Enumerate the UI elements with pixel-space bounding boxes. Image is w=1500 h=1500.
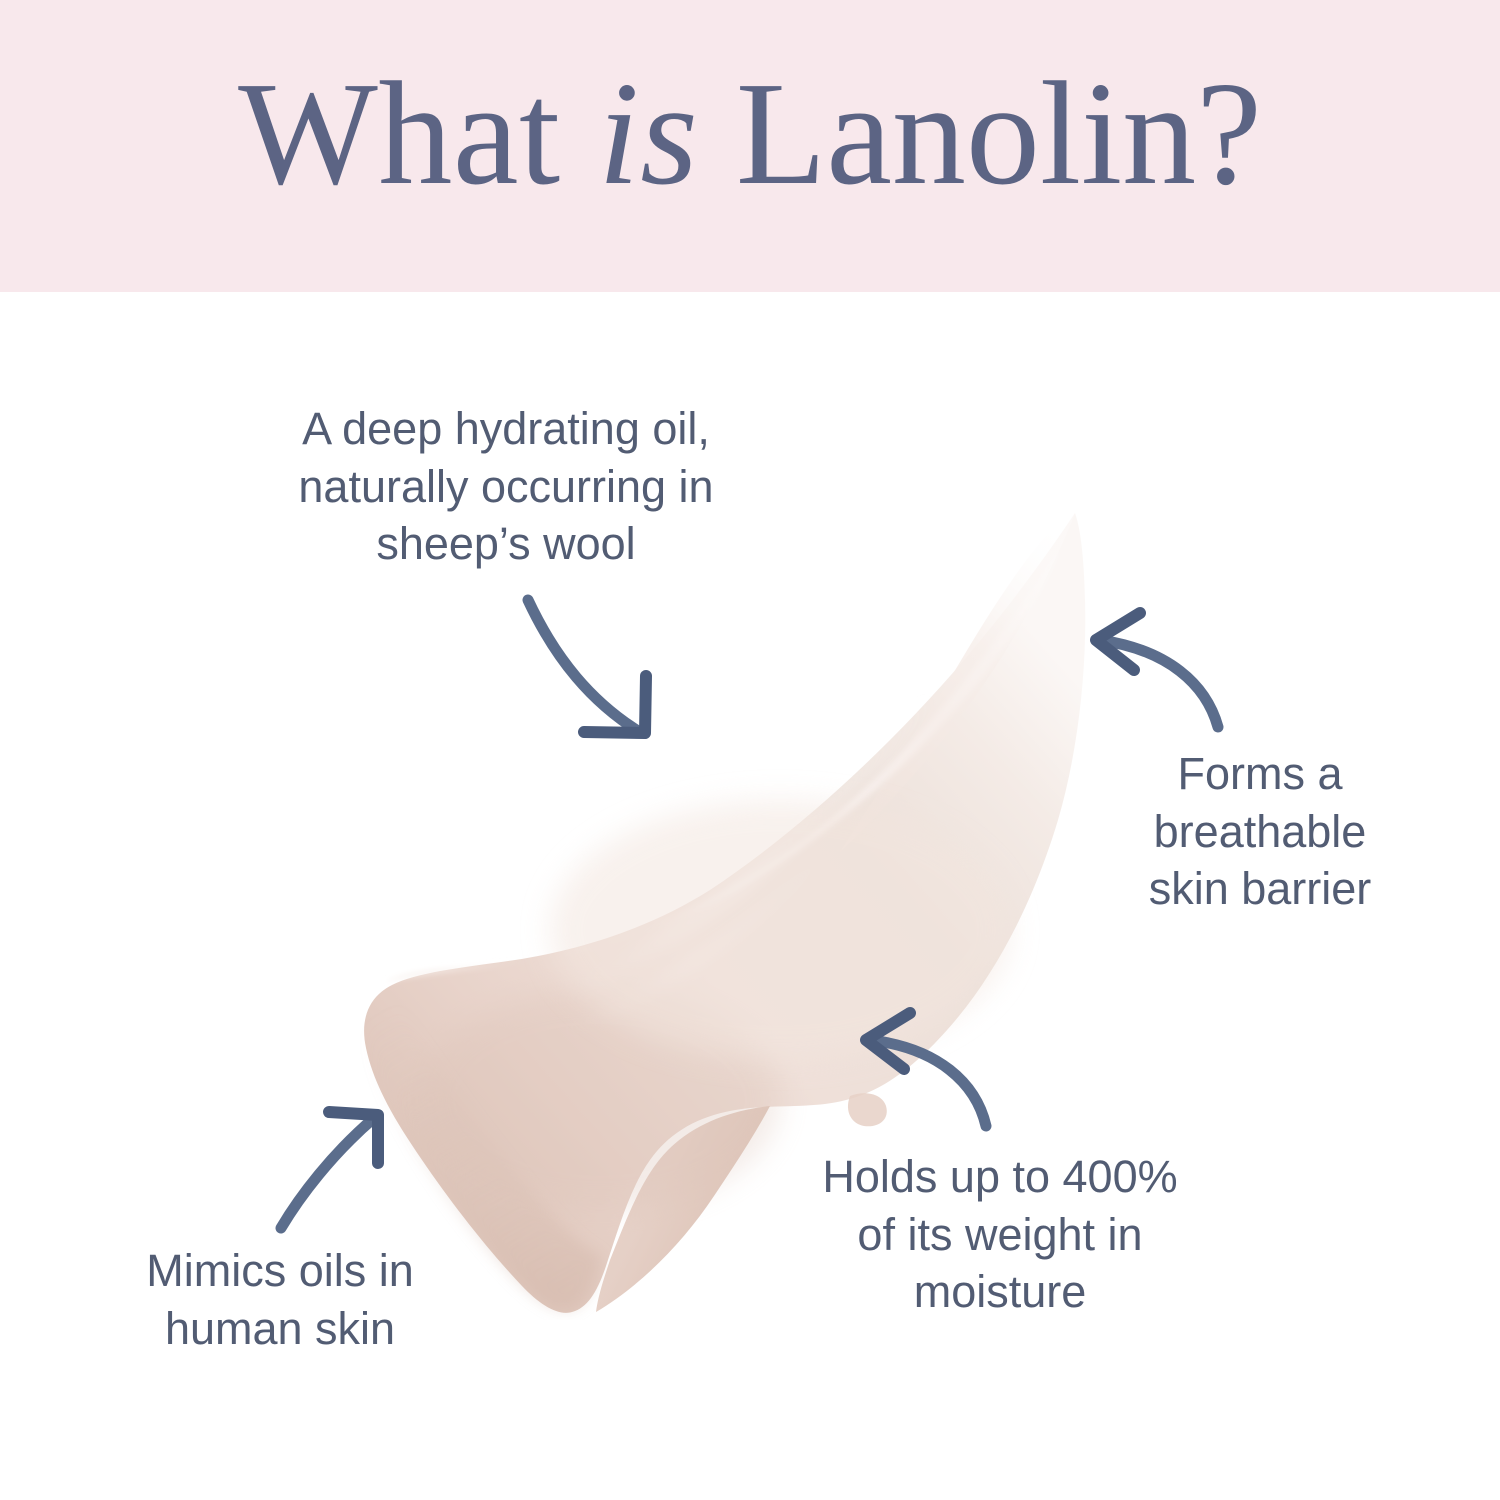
- cream-core-glow: [550, 800, 1010, 1060]
- page-title-prefix: What: [238, 52, 598, 216]
- header-band: What is Lanolin?: [0, 0, 1500, 292]
- callout-moisture-capacity: Holds up to 400% of its weight in moistu…: [720, 1148, 1280, 1321]
- page-title: What is Lanolin?: [0, 60, 1500, 208]
- callout-hydrating-oil: A deep hydrating oil, naturally occurrin…: [206, 400, 806, 573]
- infographic-canvas: What is Lanolin?: [0, 0, 1500, 1500]
- page-title-suffix: Lanolin?: [699, 52, 1262, 216]
- callout-mimics-skin-oils: Mimics oils in human skin: [60, 1242, 500, 1357]
- cream-notch: [848, 1093, 887, 1126]
- page-title-emphasis: is: [598, 52, 699, 216]
- callout-skin-barrier: Forms a breathable skin barrier: [1040, 745, 1480, 918]
